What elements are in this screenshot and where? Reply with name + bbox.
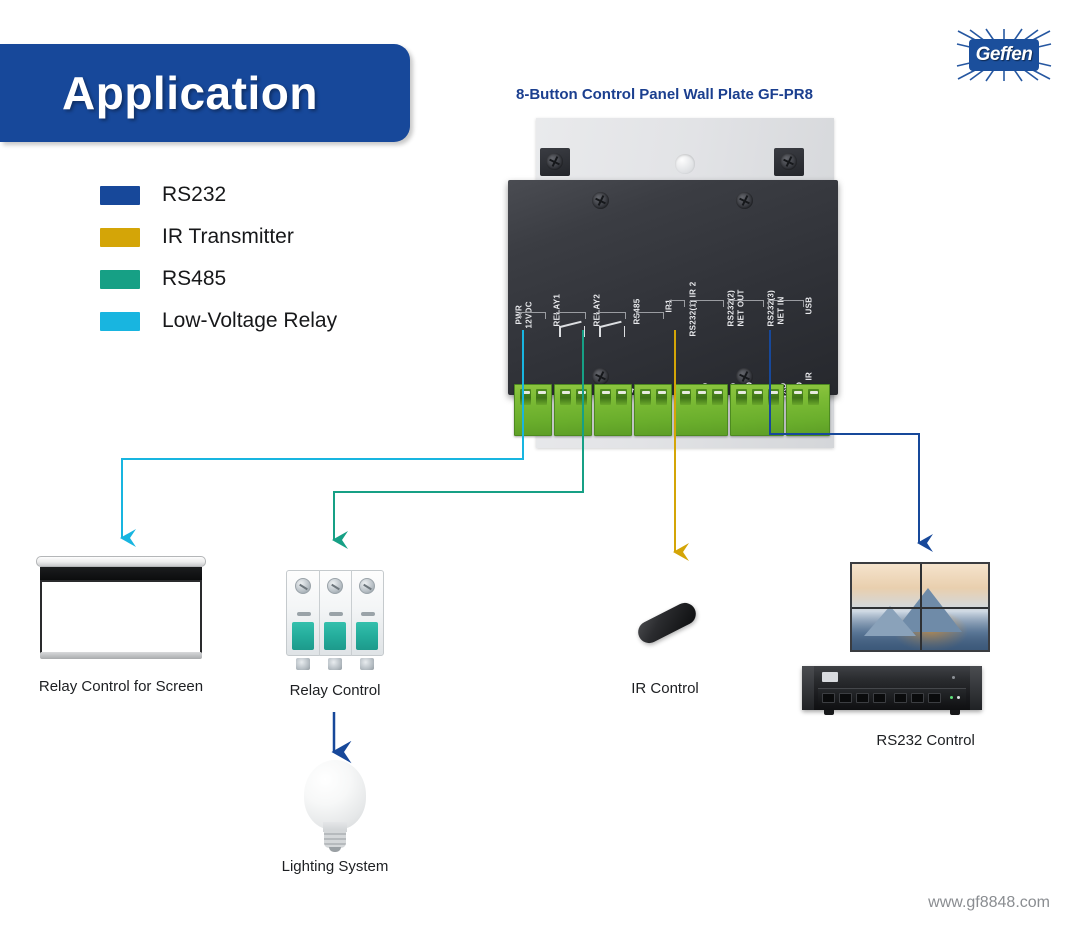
screen-black-band [40, 567, 202, 580]
application-diagram-canvas: Application [0, 0, 1080, 932]
node-caption: Relay Control [290, 682, 381, 699]
wire-relay-screen [122, 330, 523, 538]
rack-mount-ear [970, 666, 982, 710]
screen-roller-bar [36, 556, 206, 567]
logo-wordmark: Geffen [956, 28, 1052, 82]
breaker-divider [319, 570, 320, 656]
bracket-rs485 [636, 312, 664, 319]
device-body: PWR 12VDC RELAY1 RELAY2 RS485 IR1 RS232 [508, 180, 838, 395]
rack-power-led [952, 676, 955, 679]
legend-label: Low-Voltage Relay [162, 309, 337, 333]
rack-port [856, 693, 869, 703]
legend-swatch-icon [100, 312, 140, 331]
device-title: 8-Button Control Panel Wall Plate GF-PR8 [516, 86, 813, 103]
rack-port [911, 693, 924, 703]
terminal-block-relay2 [594, 384, 632, 436]
breaker-bottom-screw [296, 658, 310, 670]
breaker-terminal-screw [295, 578, 311, 594]
video-wall-bezel-horizontal [852, 607, 988, 609]
bracket-relay2 [596, 312, 626, 319]
legend-swatch-icon [100, 186, 140, 205]
mount-tab-left [540, 148, 570, 176]
plate-mount-hole-top [675, 154, 695, 174]
label-net-out: NET OUT [738, 289, 747, 326]
node-rs232-control[interactable]: RS232 Control [850, 562, 1030, 752]
page-title: Application [62, 66, 318, 120]
label-ir: IR [806, 372, 815, 381]
wall-plate-device: PWR 12VDC RELAY1 RELAY2 RS485 IR1 RS232 [508, 118, 838, 448]
breaker-terminal-screw [359, 578, 375, 594]
legend-item-rs485: RS485 [100, 258, 420, 300]
rack-port [839, 693, 852, 703]
bracket-relay1 [556, 312, 586, 319]
ir-emitter-bud [634, 599, 699, 647]
rack-foot [950, 710, 960, 715]
application-banner: Application [0, 44, 410, 142]
rack-port [873, 693, 886, 703]
node-lighting-system[interactable]: Lighting System [300, 760, 370, 880]
label-rs232-2: RS232(2) [728, 290, 737, 327]
ir-emitter-icon [630, 600, 700, 650]
terminal-strip [514, 384, 830, 436]
label-relay1: RELAY1 [554, 294, 563, 327]
bulb-base [324, 830, 346, 848]
device-silkscreen: PWR 12VDC RELAY1 RELAY2 RS485 IR1 RS232 [514, 254, 832, 392]
screw-icon [736, 192, 753, 209]
node-relay-control[interactable]: Relay Control [286, 558, 384, 698]
mountain-peak [864, 606, 916, 636]
breaker-bottom-screw [360, 658, 374, 670]
brand-logo: Geffen [956, 28, 1052, 82]
breaker-slot [361, 612, 375, 616]
label-usb: USB [806, 297, 815, 315]
projector-screen-icon [36, 556, 206, 661]
bracket-rs232-1 [690, 300, 724, 307]
screw-icon [780, 153, 797, 170]
rack-brand-badge [822, 672, 838, 682]
screen-surface [40, 580, 202, 654]
breaker-terminal-screw [327, 578, 343, 594]
terminal-block-relay1 [554, 384, 592, 436]
breaker-toggle-switch[interactable] [324, 622, 346, 650]
rack-port [822, 693, 835, 703]
relay-contact-symbol [599, 326, 625, 337]
node-caption: Lighting System [282, 858, 389, 875]
rack-port [928, 693, 941, 703]
breaker-slot [329, 612, 343, 616]
legend-label: RS485 [162, 267, 226, 291]
bulb-glass [304, 760, 366, 830]
video-wall-frame [850, 562, 990, 652]
terminal-block-rs232-3 [786, 384, 830, 436]
legend-label: RS232 [162, 183, 226, 207]
node-ir-control[interactable]: IR Control [630, 600, 700, 710]
node-caption: Relay Control for Screen [39, 678, 203, 695]
legend-item-ir-transmitter: IR Transmitter [100, 216, 420, 258]
rack-port-strip [818, 688, 966, 706]
screw-icon [546, 153, 563, 170]
label-rs232-3: RS232(3) [768, 290, 777, 327]
terminal-block-rs485 [634, 384, 672, 436]
breaker-slot [297, 612, 311, 616]
rack-processor-icon [802, 666, 982, 718]
legend-item-rs232: RS232 [100, 174, 420, 216]
node-caption: RS232 Control [876, 732, 974, 749]
circuit-breaker-icon [286, 558, 384, 668]
legend: RS232 IR Transmitter RS485 Low-Voltage R… [100, 174, 420, 342]
bracket-ir1 [669, 300, 685, 307]
breaker-bottom-screw [328, 658, 342, 670]
node-relay-screen[interactable]: Relay Control for Screen [36, 556, 206, 696]
breaker-toggle-switch[interactable] [356, 622, 378, 650]
legend-label: IR Transmitter [162, 225, 294, 249]
rack-port [894, 693, 907, 703]
rack-status-led [957, 696, 960, 699]
breaker-divider [351, 570, 352, 656]
screen-bottom-bar [40, 652, 202, 659]
label-rs232-1: RS232(1) IR 2 [690, 281, 699, 336]
screw-icon [592, 192, 609, 209]
footer-url: www.gf8848.com [928, 894, 1050, 912]
rack-chassis [802, 666, 982, 710]
legend-swatch-icon [100, 270, 140, 289]
relay-contact-symbol [559, 326, 585, 337]
rack-foot [824, 710, 834, 715]
light-bulb-icon [300, 760, 370, 852]
terminal-block-rs232-2 [730, 384, 784, 436]
legend-item-low-voltage-relay: Low-Voltage Relay [100, 300, 420, 342]
terminal-block-power [514, 384, 552, 436]
bracket-rs232-2 [728, 300, 764, 307]
video-wall-icon [850, 562, 990, 652]
rack-mount-ear [802, 666, 814, 710]
terminal-block-ir1-rs232-1 [674, 384, 728, 436]
bracket-rs232-3 [768, 300, 804, 307]
mount-tab-right [774, 148, 804, 176]
node-caption: IR Control [631, 680, 699, 697]
bracket-pwr [520, 312, 546, 319]
bulb-tip [329, 847, 341, 852]
breaker-toggle-switch[interactable] [292, 622, 314, 650]
label-relay2: RELAY2 [594, 294, 603, 327]
rack-status-led [950, 696, 953, 699]
legend-swatch-icon [100, 228, 140, 247]
